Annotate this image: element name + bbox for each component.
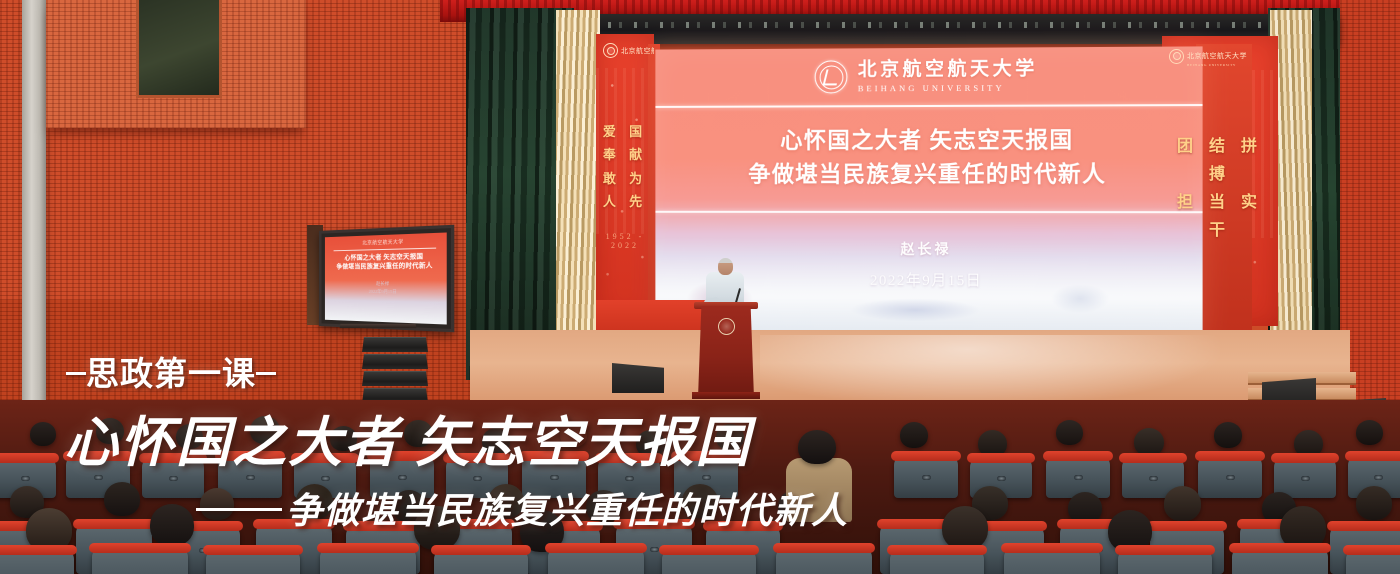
- audience-head: [150, 504, 194, 546]
- led-divider-bottom: [655, 211, 1202, 213]
- auditorium-seat: [1346, 550, 1400, 574]
- audience-head: [250, 416, 280, 444]
- banner-right-slogan-line2: 担 当 实 干: [1162, 189, 1278, 245]
- audience-head: [942, 506, 988, 550]
- auditorium-seat: [522, 456, 586, 498]
- banner-right-logo: 北京航空航天大学 BEIHANG UNIVERSITY: [1169, 45, 1278, 67]
- auditorium-seat: [1118, 550, 1212, 574]
- banner-right-slogan-line1: 团 结 拼 搏: [1162, 133, 1278, 189]
- led-logo-text-cn: 北京航空航天大学: [858, 59, 1038, 81]
- audience-head: [414, 506, 460, 550]
- auditorium-seat: [142, 458, 204, 498]
- audience-head: [330, 426, 357, 451]
- side-monitor-divider: [334, 248, 436, 252]
- audience-head: [104, 482, 140, 516]
- audience-head: [1356, 486, 1392, 520]
- structural-column: [22, 0, 46, 400]
- led-logo: 北京航空航天大学 BEIHANG UNIVERSITY: [815, 59, 1038, 93]
- podium-emblem-icon: [718, 318, 735, 335]
- led-speaker-name: 赵长禄: [901, 239, 952, 259]
- banner-left-years: 1952 - 2022: [596, 232, 654, 250]
- auditorium-seat: [206, 550, 300, 574]
- auditorium-seat: [92, 548, 188, 574]
- auditorium-seat: [776, 548, 872, 574]
- led-divider-top: [655, 104, 1202, 107]
- event-banner-image: 北京航空航天大学 爱 国 奉 献 敢 为 人 先 1952 - 2022 北京航…: [0, 0, 1400, 574]
- side-monitor-stand: [340, 324, 417, 328]
- beihang-seal-icon: [1169, 49, 1184, 64]
- auditorium-seat: [894, 456, 958, 498]
- vertical-banner-left: 北京航空航天大学 爱 国 奉 献 敢 为 人 先 1952 - 2022: [596, 34, 654, 320]
- speaker-head: [718, 258, 733, 275]
- audience-head: [96, 418, 124, 444]
- audience-head: [1214, 422, 1242, 448]
- audience-head: [404, 420, 433, 447]
- auditorium-seat: [1232, 548, 1328, 574]
- audience-head: [30, 422, 56, 446]
- audience-head: [1164, 486, 1201, 521]
- auditorium-seat: [0, 550, 74, 574]
- auditorium-seat: [434, 550, 528, 574]
- audience-area: [0, 400, 1400, 574]
- led-logo-text-en: BEIHANG UNIVERSITY: [858, 82, 1038, 93]
- auditorium-seat: [890, 550, 984, 574]
- auditorium-seat: [320, 548, 416, 574]
- banner-right-slogan: 团 结 拼 搏 担 当 实 干: [1162, 133, 1278, 245]
- led-date: 2022年9月15日: [870, 269, 982, 290]
- beihang-seal-icon: [603, 43, 618, 58]
- audience-head: [200, 488, 234, 520]
- auditorium-seat: [662, 550, 756, 574]
- stage-curtain-gold-left: [556, 10, 600, 378]
- audience-head: [716, 424, 744, 450]
- side-wall-monitor: 北京航空航天大学 心怀国之大者 矢志空天报国 争做堪当民族复兴重任的时代新人 赵…: [319, 225, 454, 333]
- stage-monitor-speaker-1: [612, 363, 664, 393]
- beihang-seal-icon: [815, 60, 848, 93]
- audience-head: [1134, 428, 1164, 456]
- side-monitor-date: 2022年9月15日: [369, 289, 397, 295]
- audience-head: [488, 484, 524, 518]
- auditorium-seat: [1004, 548, 1100, 574]
- side-monitor-speaker: 赵长禄: [376, 281, 389, 287]
- audience-head: [296, 484, 333, 519]
- led-title: 心怀国之大者 矢志空天报国 争做堪当民族复兴重任的时代新人: [748, 123, 1106, 193]
- auditorium-seat: [1046, 456, 1110, 498]
- banner-right-logo-text: 北京航空航天大学: [1187, 52, 1247, 60]
- side-monitor-title-line2: 争做堪当民族复兴重任的时代新人: [336, 262, 432, 272]
- camera-operator-head: [798, 430, 836, 464]
- audience-head: [586, 490, 621, 523]
- banner-left-logo-text: 北京航空航天大学: [621, 46, 654, 56]
- banner-left-slogan-line1: 爱 国 奉 献: [596, 120, 654, 167]
- audience-head: [1356, 420, 1383, 445]
- auditorium-seat: [548, 548, 644, 574]
- audience-head: [560, 422, 587, 447]
- audience-head: [482, 428, 510, 454]
- banner-left-slogan: 爱 国 奉 献 敢 为 人 先: [596, 120, 654, 214]
- wall-vent-upper: [136, 0, 222, 98]
- side-monitor-logo-text: 北京航空航天大学: [362, 238, 403, 246]
- camera-operator-torso: [786, 458, 852, 522]
- audience-head: [1056, 420, 1083, 445]
- audience-head: [176, 424, 203, 449]
- banner-right-logo-text-en: BEIHANG UNIVERSITY: [1187, 63, 1247, 67]
- led-title-line1: 心怀国之大者 矢志空天报国: [748, 123, 1106, 159]
- line-array-speaker-stack: [362, 337, 428, 405]
- side-monitor-screen: 北京航空航天大学 心怀国之大者 矢志空天报国 争做堪当民族复兴重任的时代新人 赵…: [325, 232, 447, 324]
- podium-base: [692, 392, 760, 399]
- banner-left-slogan-line2: 敢 为 人 先: [596, 167, 654, 214]
- banner-left-logo: 北京航空航天大学: [603, 43, 654, 58]
- audience-head: [682, 484, 718, 518]
- led-title-line2: 争做堪当民族复兴重任的时代新人: [748, 158, 1106, 193]
- auditorium-seat: [1198, 456, 1262, 498]
- audience-head: [900, 422, 928, 448]
